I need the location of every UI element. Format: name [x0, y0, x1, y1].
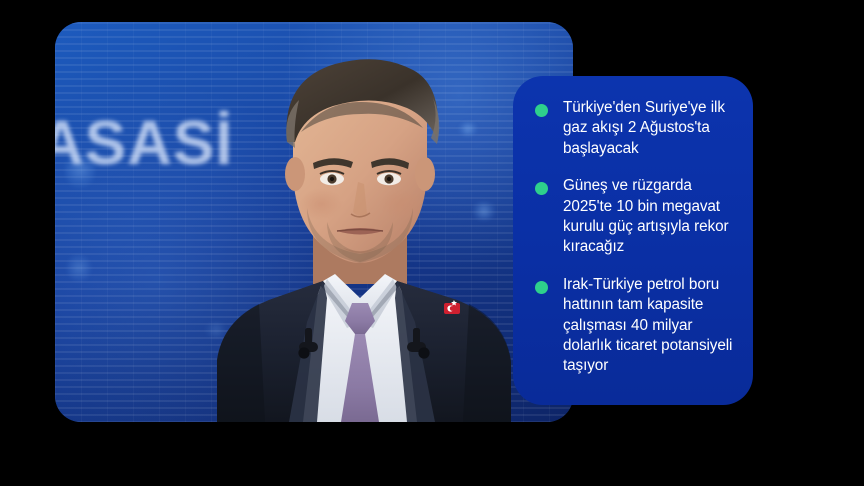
headline-text: Türkiye'den Suriye'ye ilk gaz akışı 2 Ağ… — [563, 98, 739, 159]
list-item: Irak-Türkiye petrol boru hattının tam ka… — [535, 275, 739, 377]
bullet-dot-icon — [535, 182, 548, 195]
screenshot-stage: ASASİ — [0, 0, 864, 486]
backdrop-light-bokeh — [67, 254, 91, 282]
backdrop-light-bokeh — [407, 97, 433, 117]
backdrop-scanlines — [55, 22, 573, 422]
list-item: Türkiye'den Suriye'ye ilk gaz akışı 2 Ağ… — [535, 98, 739, 159]
backdrop-wordmark: ASASİ — [55, 108, 233, 179]
headline-text: Irak-Türkiye petrol boru hattının tam ka… — [563, 275, 739, 377]
news-photo-card: ASASİ — [55, 22, 573, 422]
headline-text: Güneş ve rüzgarda 2025'te 10 bin megavat… — [563, 176, 739, 258]
headline-bullet-list: Türkiye'den Suriye'ye ilk gaz akışı 2 Ağ… — [513, 76, 753, 395]
list-item: Güneş ve rüzgarda 2025'te 10 bin megavat… — [535, 176, 739, 258]
headline-panel: Türkiye'den Suriye'ye ilk gaz akışı 2 Ağ… — [513, 76, 753, 405]
bullet-dot-icon — [535, 281, 548, 294]
backdrop-light-bokeh — [459, 122, 477, 136]
bullet-dot-icon — [535, 104, 548, 117]
backdrop-light-bokeh — [205, 322, 227, 338]
backdrop-light-bokeh — [473, 202, 495, 220]
